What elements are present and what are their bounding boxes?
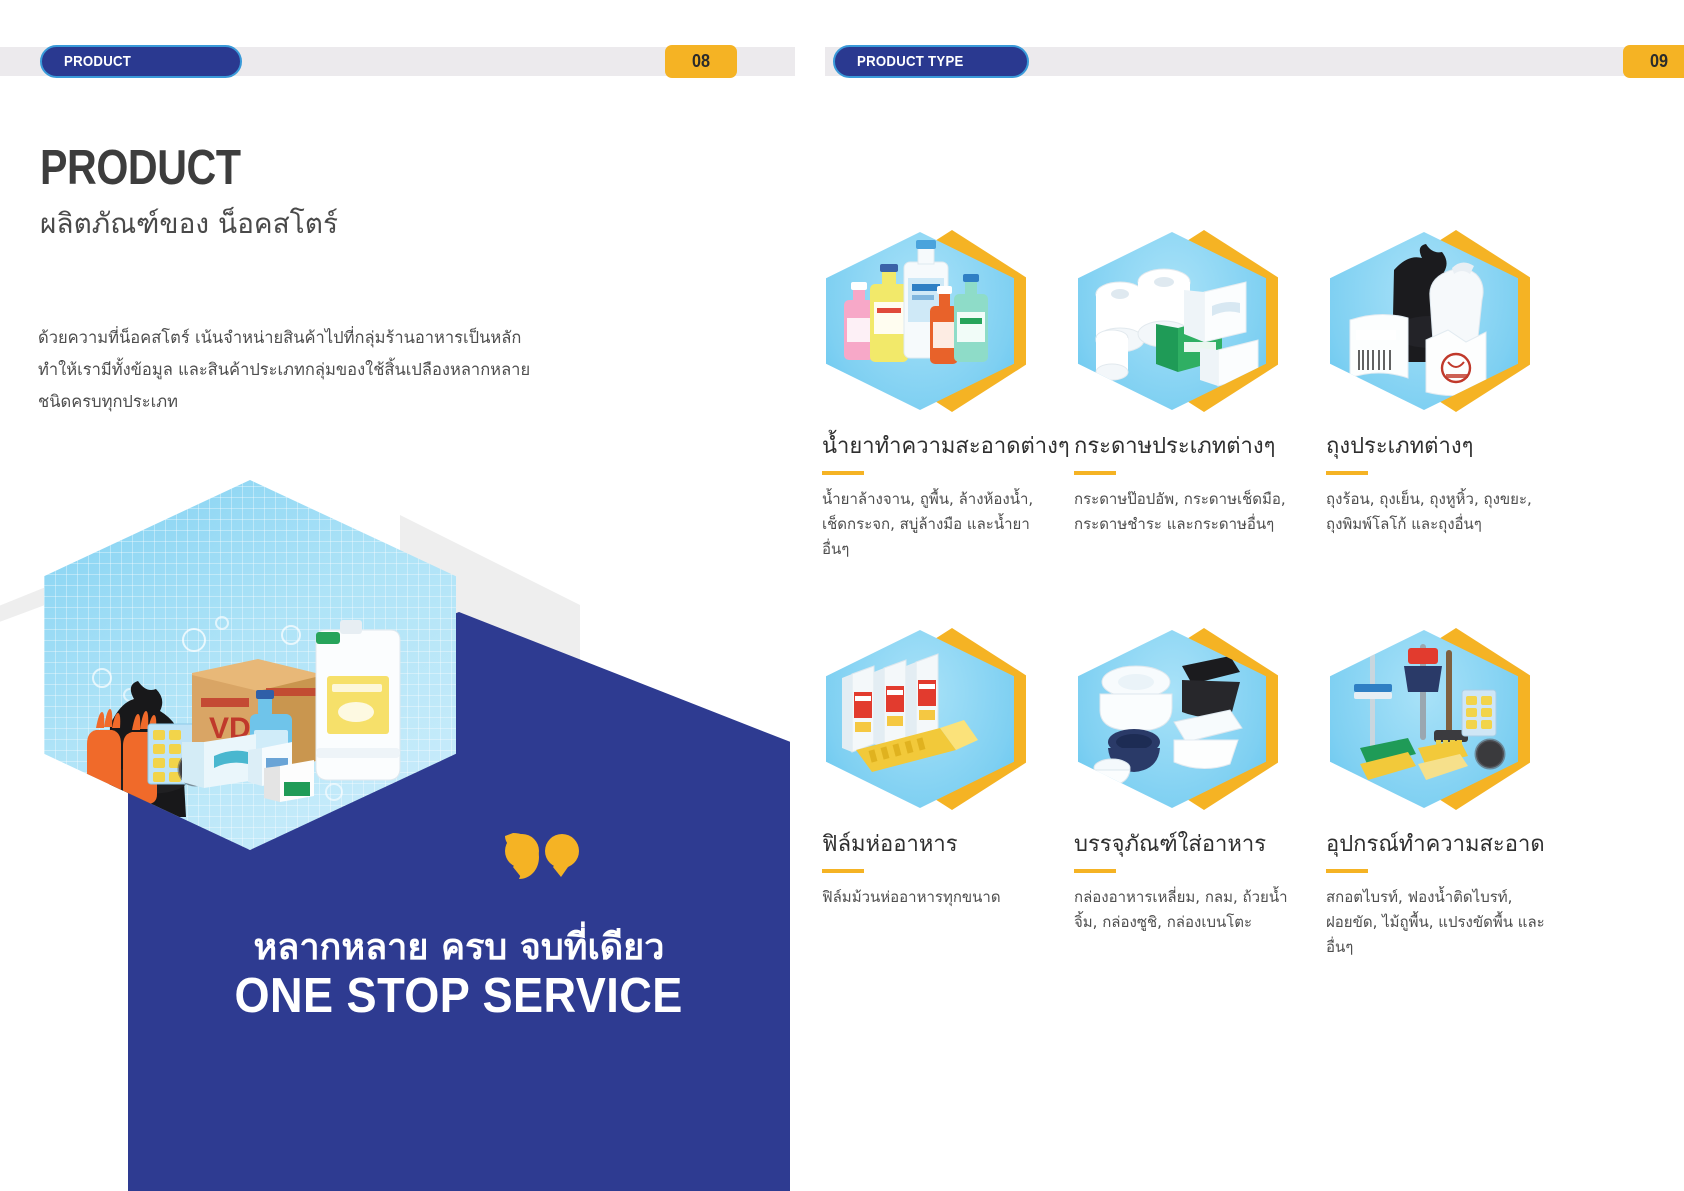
desc-line: อื่นๆ	[1326, 935, 1566, 960]
desc-line: อื่นๆ	[822, 537, 1062, 562]
product-card-divider	[1074, 869, 1116, 873]
product-catalog-page: PRODUCT 08 PRODUCT TYPE 09 PRODUCT ผลิตภ…	[0, 0, 1684, 1191]
product-card-description: น้ำยาล้างจาน, ถูพื้น, ล้างห้องน้ำ, เช็ดก…	[822, 487, 1062, 562]
desc-line: ฝอยขัด, ไม้ถูพื้น, แปรงขัดพื้น และ	[1326, 910, 1566, 935]
page-subtitle: ผลิตภัณฑ์ของ น็อคสโตร์	[40, 202, 338, 246]
desc-line: ถุงพิมพ์โลโก้ และถุงอื่นๆ	[1326, 512, 1566, 537]
section-tag-product: PRODUCT	[40, 45, 242, 78]
product-card-description: ฟิล์มม้วนห่ออาหารทุกขนาด	[822, 885, 1062, 910]
intro-line: ทำให้เรามีทั้งข้อมูล และสินค้าประเภทกลุ่…	[38, 354, 508, 386]
product-card-cleaning-liquids[interactable]: น้ำยาทำความสะอาดต่างๆ น้ำยาล้างจาน, ถูพื…	[822, 232, 1080, 562]
product-card-image-wrap	[1330, 630, 1528, 808]
page-number-badge-right: 09	[1623, 45, 1684, 78]
desc-line: จิ้ม, กล่องซูชิ, กล่องเบนโตะ	[1074, 910, 1314, 935]
product-card-divider	[822, 471, 864, 475]
section-tag-product-type: PRODUCT TYPE	[833, 45, 1029, 78]
product-card-divider	[1326, 471, 1368, 475]
desc-line: กล่องอาหารเหลี่ยม, กลม, ถ้วยน้ำ	[1074, 885, 1314, 910]
product-card-description: กระดาษป๊อปอัพ, กระดาษเช็ดมือ, กระดาษชำระ…	[1074, 487, 1314, 537]
header-bar-right: PRODUCT TYPE 09	[825, 47, 1684, 76]
product-card-description: ถุงร้อน, ถุงเย็น, ถุงหูหิ้ว, ถุงขยะ, ถุง…	[1326, 487, 1566, 537]
product-card-image-wrap	[826, 232, 1024, 410]
product-card-food-containers[interactable]: บรรจุภัณฑ์ใส่อาหาร กล่องอาหารเหลี่ยม, กล…	[1074, 630, 1332, 935]
quote-mark-icon	[505, 833, 585, 893]
product-card-food-wrap[interactable]: ฟิล์มห่ออาหาร ฟิล์มม้วนห่ออาหารทุกขนาด	[822, 630, 1080, 910]
intro-paragraph: ด้วยความที่น็อคสโตร์ เน้นจำหน่ายสินค้าไป…	[38, 322, 508, 418]
desc-line: น้ำยาล้างจาน, ถูพื้น, ล้างห้องน้ำ,	[822, 487, 1062, 512]
intro-line: ด้วยความที่น็อคสโตร์ เน้นจำหน่ายสินค้าไป…	[38, 322, 508, 354]
intro-line: ชนิดครบทุกประเภท	[38, 386, 508, 418]
product-card-bags[interactable]: ถุงประเภทต่างๆ ถุงร้อน, ถุงเย็น, ถุงหูหิ…	[1326, 232, 1584, 537]
desc-line: สกอตไบรท์, ฟองน้ำติดไบรท์,	[1326, 885, 1566, 910]
product-card-description: กล่องอาหารเหลี่ยม, กลม, ถ้วยน้ำ จิ้ม, กล…	[1074, 885, 1314, 935]
page-title: PRODUCT	[40, 140, 241, 196]
product-card-image-wrap	[1330, 232, 1528, 410]
desc-line: เช็ดกระจก, สบู่ล้างมือ และน้ำยา	[822, 512, 1062, 537]
product-card-paper[interactable]: กระดาษประเภทต่างๆ กระดาษป๊อปอัพ, กระดาษเ…	[1074, 232, 1332, 537]
banner-headline-english-text: ONE STOP SERVICE	[235, 968, 683, 1024]
header-bar-left: PRODUCT 08	[0, 47, 795, 76]
product-card-divider	[1074, 471, 1116, 475]
product-card-image-wrap	[826, 630, 1024, 808]
section-tag-product-type-label: PRODUCT TYPE	[857, 53, 964, 70]
product-card-image-wrap	[1078, 232, 1276, 410]
page-number-right: 09	[1650, 51, 1668, 72]
product-card-image-wrap	[1078, 630, 1276, 808]
product-card-title: กระดาษประเภทต่างๆ	[1074, 434, 1332, 459]
desc-line: ถุงร้อน, ถุงเย็น, ถุงหูหิ้ว, ถุงขยะ,	[1326, 487, 1566, 512]
product-card-title: อุปกรณ์ทำความสะอาด	[1326, 832, 1584, 857]
product-card-cleaning-tools[interactable]: อุปกรณ์ทำความสะอาด สกอตไบรท์, ฟองน้ำติดไ…	[1326, 630, 1584, 960]
banner-headline-thai: หลากหลาย ครบ จบที่เดียว	[128, 918, 790, 975]
page-number-left: 08	[692, 51, 710, 72]
desc-line: กระดาษชำระ และกระดาษอื่นๆ	[1074, 512, 1314, 537]
product-card-description: สกอตไบรท์, ฟองน้ำติดไบรท์, ฝอยขัด, ไม้ถู…	[1326, 885, 1566, 960]
section-tag-product-label: PRODUCT	[64, 53, 131, 70]
product-card-divider	[822, 869, 864, 873]
banner-headline-english: ONE STOP SERVICE	[128, 968, 790, 1024]
product-card-title: ฟิล์มห่ออาหาร	[822, 832, 1080, 857]
desc-line: กระดาษป๊อปอัพ, กระดาษเช็ดมือ,	[1074, 487, 1314, 512]
product-card-title: น้ำยาทำความสะอาดต่างๆ	[822, 434, 1080, 459]
desc-line: ฟิล์มม้วนห่ออาหารทุกขนาด	[822, 885, 1062, 910]
page-number-badge-left: 08	[665, 45, 737, 78]
product-card-title: ถุงประเภทต่างๆ	[1326, 434, 1584, 459]
product-card-title: บรรจุภัณฑ์ใส่อาหาร	[1074, 832, 1332, 857]
product-card-divider	[1326, 869, 1368, 873]
